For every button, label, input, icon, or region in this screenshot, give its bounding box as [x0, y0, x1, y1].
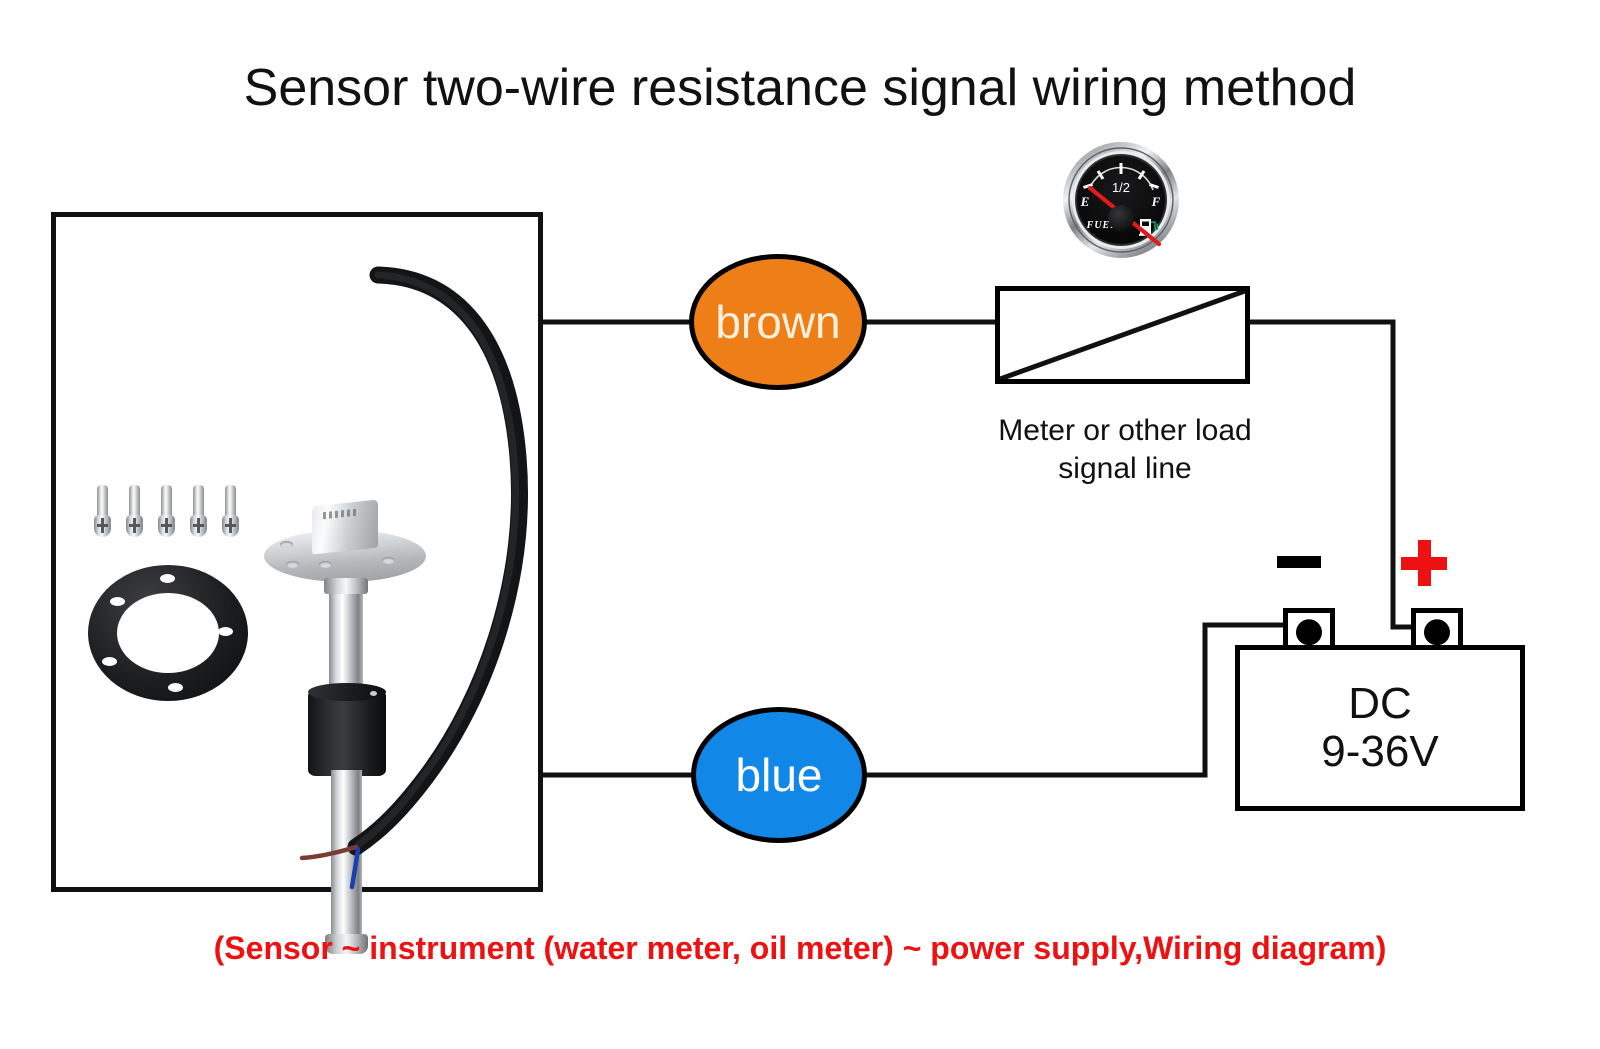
fuel-gauge: E 1/2 F FUEL	[1055, 140, 1187, 260]
wire-label-blue[interactable]: blue	[691, 707, 867, 843]
battery-positive-terminal[interactable]	[1411, 608, 1463, 648]
gauge-center-hub	[1108, 205, 1134, 231]
gauge-tick-label-half: 1/2	[1112, 180, 1130, 195]
wire-blue-to-battery-negative	[864, 625, 1288, 775]
gauge-tick-label-full: F	[1151, 194, 1161, 209]
battery-negative-symbol	[1277, 556, 1321, 568]
meter-label-line1: Meter or other load	[930, 412, 1320, 450]
plus-vertical-bar	[1418, 540, 1431, 586]
battery-label-line2: 9-36V	[1321, 728, 1438, 776]
meter-load-label: Meter or other load signal line	[930, 412, 1320, 487]
meter-load-box[interactable]	[995, 286, 1250, 384]
battery-label-line1: DC	[1348, 680, 1412, 728]
diagram-caption: (Sensor ~ instrument (water meter, oil m…	[0, 930, 1600, 967]
wire-label-brown[interactable]: brown	[689, 254, 867, 390]
wire-label-brown-text: brown	[715, 295, 840, 349]
meter-diagonal-icon	[1000, 291, 1245, 379]
terminal-post	[1296, 619, 1322, 645]
meter-label-line2: signal line	[930, 450, 1320, 488]
wiring-lines	[0, 0, 1600, 1049]
dc-power-supply: DC 9-36V	[1235, 645, 1525, 811]
wire-label-blue-text: blue	[736, 748, 823, 802]
battery-negative-terminal[interactable]	[1283, 608, 1335, 648]
wiring-diagram-canvas: Sensor two-wire resistance signal wiring…	[0, 0, 1600, 1049]
terminal-post	[1424, 619, 1450, 645]
battery-positive-symbol	[1401, 540, 1447, 586]
gauge-tick-label-empty: E	[1080, 194, 1090, 209]
